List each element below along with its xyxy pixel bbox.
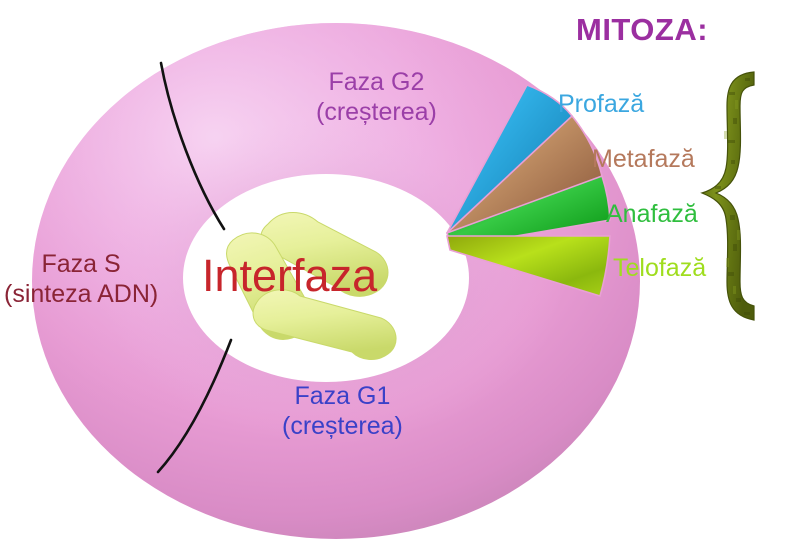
cell-cycle-figure: MITOZA: Faza G2 (creșterea) Faza S (sint… bbox=[0, 0, 804, 559]
mitosis-label-profaza[interactable]: Profază bbox=[558, 90, 644, 120]
mitosis-label-telofaza[interactable]: Telofază bbox=[613, 254, 706, 284]
curly-brace-icon bbox=[702, 72, 754, 320]
mitosis-label-anafaza[interactable]: Anafază bbox=[606, 200, 698, 230]
mitosis-label-metafaza[interactable]: Metafază bbox=[592, 145, 695, 175]
